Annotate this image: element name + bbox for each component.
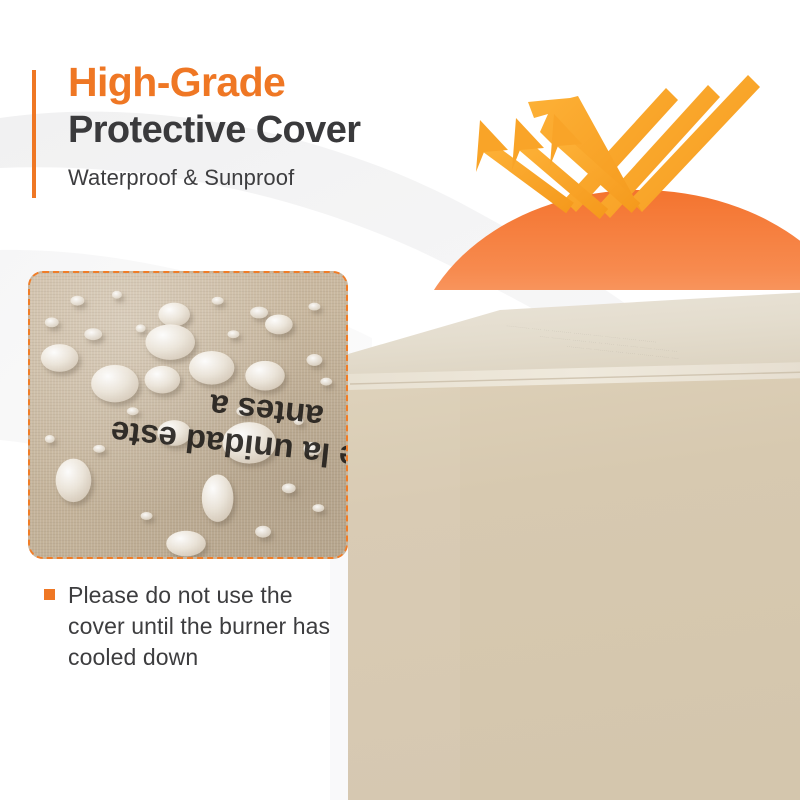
headline-line-1: High-Grade	[68, 62, 360, 104]
headline-block: High-Grade Protective Cover Waterproof &…	[32, 62, 360, 191]
headline-subtitle: Waterproof & Sunproof	[68, 165, 360, 191]
warning-note-text: Please do not use the cover until the bu…	[68, 580, 344, 673]
headline-line-2: Protective Cover	[68, 109, 360, 152]
cover-front-shading	[348, 388, 460, 800]
square-bullet-icon	[44, 589, 55, 600]
product-feature-banner: ............ ..... ... .......... ......…	[0, 0, 800, 800]
incoming-ray-1	[630, 75, 760, 212]
warning-note: Please do not use the cover until the bu…	[44, 580, 344, 673]
droplets	[41, 291, 332, 557]
accent-bar	[32, 70, 36, 198]
protective-cover-product	[330, 270, 800, 800]
sun-reflection-diagram	[430, 40, 800, 290]
water-droplets-layer	[30, 273, 346, 557]
waterproof-fabric-closeup: e la unidad este antes a	[28, 271, 348, 559]
